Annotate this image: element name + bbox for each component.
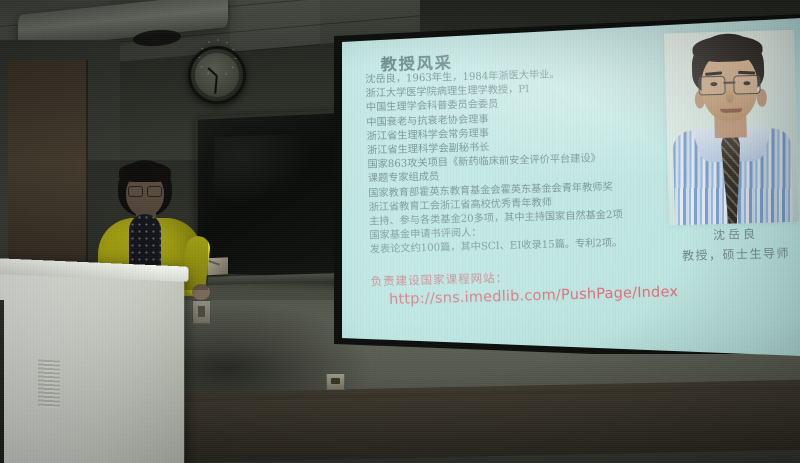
blackboard-sheen bbox=[214, 134, 312, 207]
lectern-vent bbox=[38, 359, 60, 408]
portrait-caption: 沈岳良 教授，硕士生导师 bbox=[669, 224, 800, 265]
lectern-side-panel bbox=[0, 300, 4, 463]
wall-clock bbox=[188, 46, 246, 104]
portrait-role: 教授，硕士生导师 bbox=[670, 244, 800, 265]
door bbox=[8, 60, 88, 270]
floor bbox=[120, 380, 800, 463]
slide-footer: 负责建设国家课程网站： http://sns.imedlib.com/PushP… bbox=[370, 265, 701, 309]
slide: 教授风采 沈岳良，1963年生，1984年浙医大毕业。 浙江大学医学院病理生理学… bbox=[348, 24, 800, 336]
lectern bbox=[0, 262, 184, 463]
clock-face bbox=[195, 53, 239, 97]
slide-body: 沈岳良，1963年生，1984年浙医大毕业。 浙江大学医学院病理生理学教授，PI… bbox=[365, 65, 670, 258]
portrait-shading bbox=[664, 30, 799, 225]
classroom-photo: 教授风采 沈岳良，1963年生，1984年浙医大毕业。 浙江大学医学院病理生理学… bbox=[0, 0, 800, 463]
clock-minute-hand bbox=[215, 76, 218, 94]
portrait-photo bbox=[664, 30, 799, 225]
projection-screen: 教授风采 沈岳良，1963年生，1984年浙医大毕业。 浙江大学医学院病理生理学… bbox=[330, 14, 800, 354]
power-outlet bbox=[326, 373, 345, 390]
portrait-name: 沈岳良 bbox=[669, 224, 800, 245]
light-switch[interactable] bbox=[192, 300, 211, 324]
